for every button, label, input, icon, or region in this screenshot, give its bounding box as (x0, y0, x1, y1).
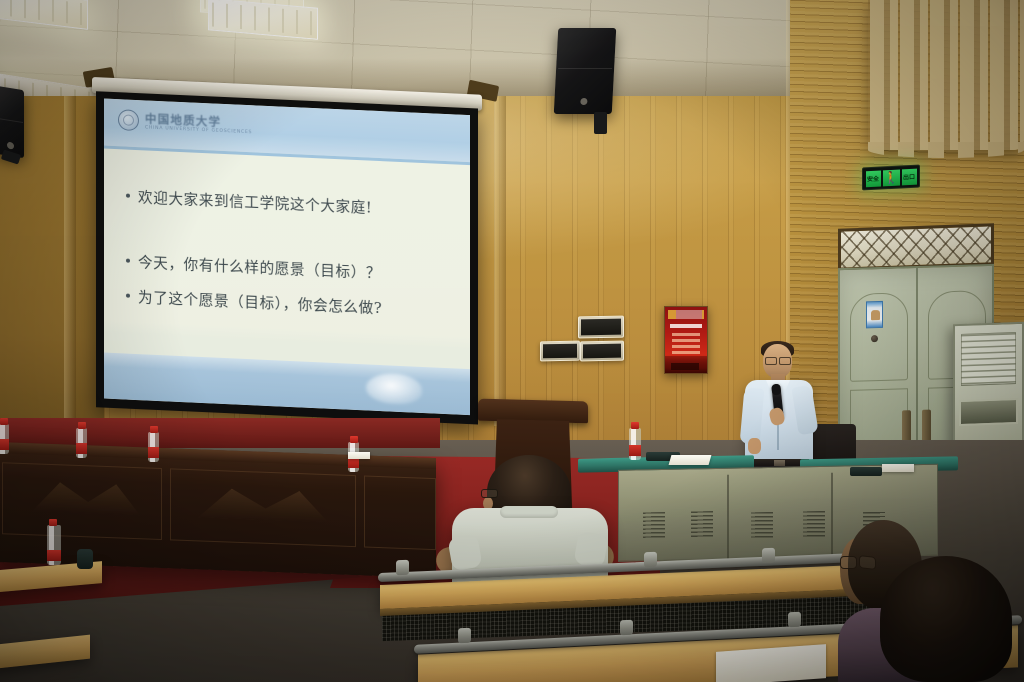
rail-clamp (644, 552, 657, 567)
bullet-dot-icon (126, 294, 130, 298)
handwritten-paper (716, 644, 826, 682)
footer-cloud-graphic (366, 372, 422, 405)
wall-control-box[interactable] (540, 341, 580, 362)
paper-sheet (348, 452, 370, 459)
paper-sheet (882, 464, 914, 472)
rail-clamp (620, 620, 633, 636)
glasses-icon (481, 489, 498, 498)
emergency-exit-sign: 安全 🚶 出口 (862, 164, 920, 190)
wall-speaker-icon (0, 86, 24, 158)
lecture-hall-photo: 安全 🚶 出口 (0, 0, 1024, 682)
wall-control-box[interactable] (580, 341, 624, 362)
glasses-icon (765, 357, 791, 363)
desk-mat (850, 467, 882, 476)
rail-clamp (762, 548, 775, 563)
bullet-dot-icon (126, 259, 130, 263)
paper-sheet (669, 455, 712, 465)
exit-sign-left-text: 安全 (866, 170, 881, 187)
exit-sign-right-text: 出口 (902, 168, 917, 185)
rail-clamp (396, 560, 409, 575)
slide-body: 欢迎大家来到信工学院这个大家庭! 今天，你有什么样的愿景（目标）？ 为了这个愿景… (104, 149, 470, 370)
water-bottle (629, 428, 641, 460)
student-collar (500, 506, 558, 518)
screen-frame: 中国地质大学 CHINA UNIVERSITY OF GEOSCIENCES 欢… (96, 91, 478, 424)
desk-clamp (77, 549, 93, 569)
speaker-bracket (594, 112, 607, 134)
university-seal-icon (118, 109, 139, 131)
student-sleeve (447, 534, 482, 572)
foreground-audience-head (880, 556, 1012, 682)
water-bottle (47, 525, 61, 565)
window-curtain (868, 0, 1024, 150)
running-man-icon: 🚶 (883, 169, 900, 186)
projector-screen: 中国地质大学 CHINA UNIVERSITY OF GEOSCIENCES 欢… (96, 77, 484, 425)
glasses-icon (840, 556, 874, 569)
wall-pilaster (64, 96, 76, 466)
wall-speaker-icon (554, 28, 617, 114)
bullet-dot-icon (126, 194, 130, 198)
wall-pilaster (494, 96, 506, 426)
wall-control-box[interactable] (578, 316, 624, 339)
water-bottle (76, 428, 87, 458)
water-bottle (148, 432, 159, 462)
rail-clamp (458, 628, 471, 644)
water-bottle (0, 424, 9, 454)
stage-riser (0, 418, 440, 448)
door-certificate-sticker (866, 301, 883, 328)
presentation-slide: 中国地质大学 CHINA UNIVERSITY OF GEOSCIENCES 欢… (104, 99, 470, 416)
rail-clamp (788, 612, 801, 628)
red-propaganda-poster (664, 306, 708, 374)
head-table (0, 442, 436, 578)
